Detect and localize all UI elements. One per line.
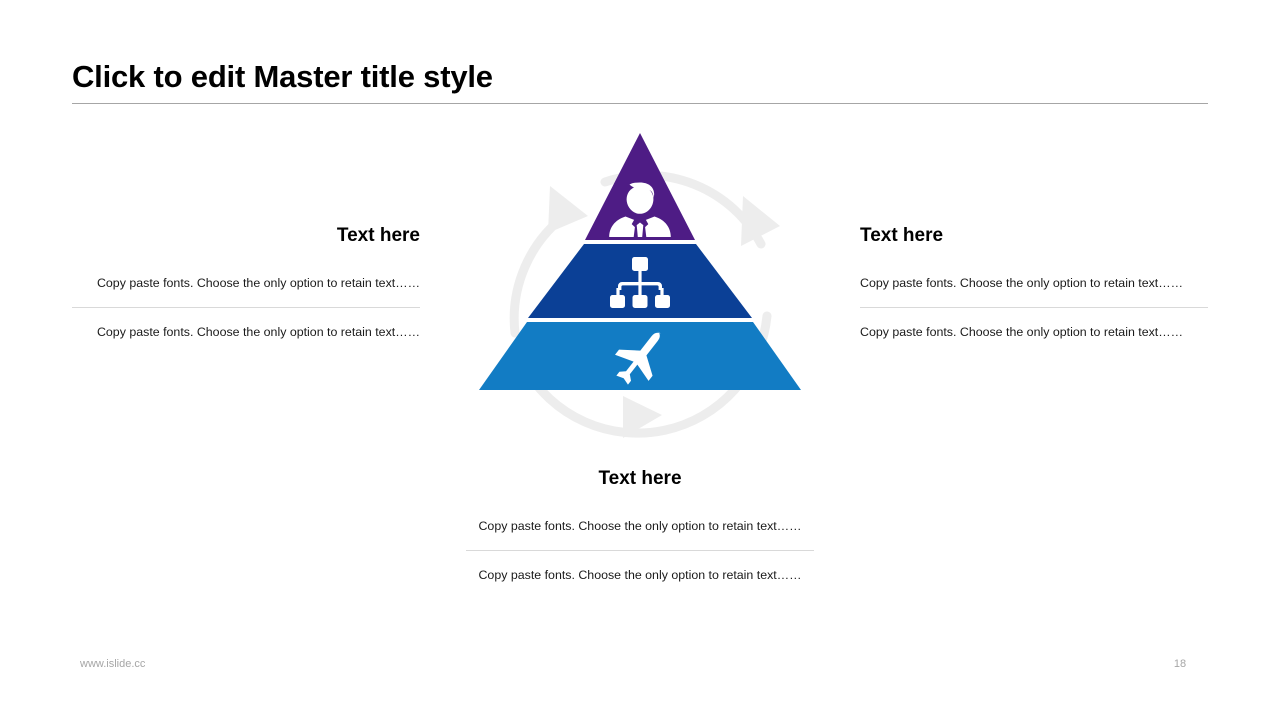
text-group-left-paragraph-2[interactable]: Copy paste fonts. Choose the only option… xyxy=(72,320,420,344)
text-group-bottom-divider xyxy=(466,550,814,551)
text-group-left-heading[interactable]: Text here xyxy=(72,224,420,249)
text-group-bottom[interactable]: Text here Copy paste fonts. Choose the o… xyxy=(466,467,814,587)
title-divider xyxy=(72,103,1208,104)
text-group-right-heading[interactable]: Text here xyxy=(860,224,1208,249)
text-group-right-paragraph-2[interactable]: Copy paste fonts. Choose the only option… xyxy=(860,320,1208,344)
pyramid-tier-bottom[interactable] xyxy=(479,322,801,390)
text-group-left[interactable]: Text here Copy paste fonts. Choose the o… xyxy=(72,224,420,344)
text-group-right[interactable]: Text here Copy paste fonts. Choose the o… xyxy=(860,224,1208,344)
pyramid-diagram[interactable] xyxy=(455,118,825,458)
text-group-right-divider xyxy=(860,307,1208,308)
footer-url[interactable]: www.islide.cc xyxy=(80,658,145,670)
text-group-left-divider xyxy=(72,307,420,308)
pyramid-tier-middle[interactable] xyxy=(528,244,752,318)
slide-canvas: Click to edit Master title style Text he… xyxy=(0,0,1280,720)
page-title[interactable]: Click to edit Master title style xyxy=(72,58,1208,97)
title-block[interactable]: Click to edit Master title style xyxy=(72,58,1208,97)
text-group-right-paragraph-1[interactable]: Copy paste fonts. Choose the only option… xyxy=(860,271,1208,295)
text-group-bottom-heading[interactable]: Text here xyxy=(466,467,814,492)
page-number: 18 xyxy=(1160,658,1200,670)
text-group-bottom-paragraph-1[interactable]: Copy paste fonts. Choose the only option… xyxy=(466,514,814,538)
text-group-bottom-paragraph-2[interactable]: Copy paste fonts. Choose the only option… xyxy=(466,563,814,587)
text-group-left-paragraph-1[interactable]: Copy paste fonts. Choose the only option… xyxy=(72,271,420,295)
pyramid-tier-top[interactable] xyxy=(585,133,695,240)
